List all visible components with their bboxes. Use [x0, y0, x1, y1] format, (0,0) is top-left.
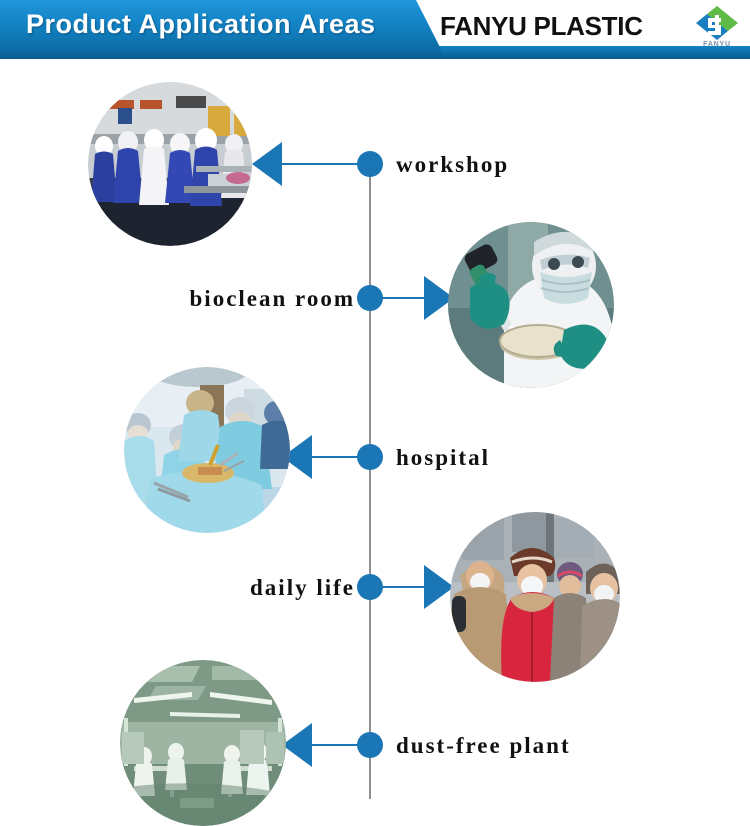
- page-header: Product Application Areas FANYU PLASTIC …: [0, 0, 750, 60]
- label-bioclean-room: bioclean room: [190, 286, 355, 312]
- page-title: Product Application Areas: [26, 9, 376, 40]
- masked-pedestrians-photo: [450, 512, 620, 682]
- brand-name: FANYU PLASTIC: [440, 11, 643, 42]
- logo-text: FANYU: [694, 41, 740, 48]
- timeline-dot-daily-life[interactable]: [357, 574, 383, 600]
- timeline-dot-dust-free-plant[interactable]: [357, 732, 383, 758]
- label-workshop: workshop: [396, 152, 509, 178]
- label-dust-free-plant: dust-free plant: [396, 733, 571, 759]
- fanyu-logo: FANYU: [694, 4, 740, 54]
- label-hospital: hospital: [396, 445, 490, 471]
- logo-diamond-icon: [694, 4, 740, 42]
- dust-free-plant-photo: [120, 660, 286, 826]
- timeline-dot-hospital[interactable]: [357, 444, 383, 470]
- timeline-dot-workshop[interactable]: [357, 151, 383, 177]
- label-daily-life: daily life: [250, 575, 355, 601]
- cleanroom-workers-photo: [88, 82, 252, 246]
- timeline-dot-bioclean-room[interactable]: [357, 285, 383, 311]
- timeline-vertical-line: [369, 170, 371, 799]
- connector-bioclean-room: [380, 297, 430, 299]
- operating-room-photo: [124, 367, 290, 533]
- connector-daily-life: [380, 586, 430, 588]
- lab-technician-photo: [448, 222, 614, 388]
